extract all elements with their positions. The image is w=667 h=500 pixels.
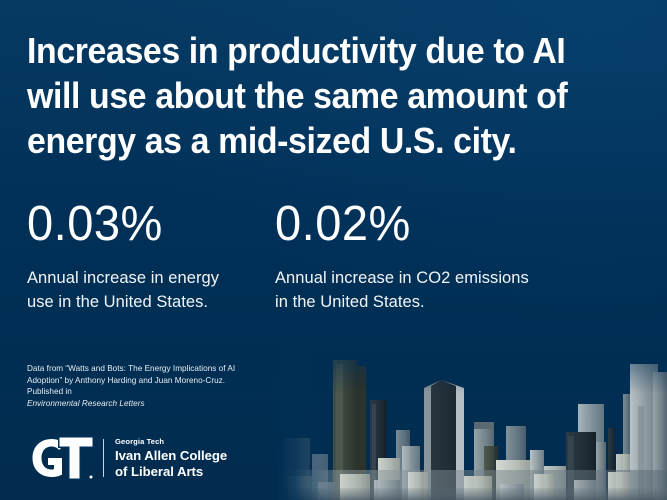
- logo-college-name: Ivan Allen College of Liberal Arts: [115, 448, 227, 479]
- stat-co2-emissions-label: Annual increase in CO2 emissions in the …: [275, 266, 523, 314]
- stat-energy-use-label-line-1: Annual increase in energy: [27, 266, 275, 290]
- logo-college-name-line-2: of Liberal Arts: [115, 464, 227, 480]
- skyline-top-haze: [278, 342, 667, 394]
- stat-co2-emissions-label-line-1: Annual increase in CO2 emissions: [275, 266, 523, 290]
- logo-divider: [103, 439, 104, 477]
- headline: Increases in productivity due to AI will…: [27, 28, 591, 163]
- headline-line-2: will use about the same amount of: [27, 73, 591, 118]
- stat-co2-emissions-label-line-2: in the United States.: [275, 290, 523, 314]
- logo-eyebrow: Georgia Tech: [115, 437, 227, 446]
- source-citation: Data from “Watts and Bots: The Energy Im…: [27, 363, 327, 409]
- city-skyline-illustration: [278, 342, 667, 500]
- statistics-group: 0.03% Annual increase in energy use in t…: [27, 196, 637, 314]
- georgia-tech-logo-lockup: Georgia Tech Ivan Allen College of Liber…: [28, 436, 227, 480]
- logo-wordmark: Georgia Tech Ivan Allen College of Liber…: [115, 437, 227, 479]
- stat-energy-use-label-line-2: use in the United States.: [27, 290, 275, 314]
- stat-energy-use: 0.03% Annual increase in energy use in t…: [27, 196, 275, 314]
- stat-co2-emissions-value: 0.02%: [275, 196, 513, 252]
- georgia-tech-gt-monogram-icon: [28, 436, 94, 480]
- stat-energy-use-value: 0.03%: [27, 196, 265, 252]
- citation-published-prefix: Published in: [27, 386, 327, 398]
- citation-line-2: Adoption” by Anthony Harding and Juan Mo…: [27, 375, 327, 387]
- citation-line-3: Published in Environmental Research Lett…: [27, 386, 327, 409]
- citation-journal-name: Environmental Research Letters: [27, 399, 145, 408]
- stat-co2-emissions: 0.02% Annual increase in CO2 emissions i…: [275, 196, 523, 314]
- infographic-card: Increases in productivity due to AI will…: [0, 0, 667, 500]
- headline-line-1: Increases in productivity due to AI: [27, 28, 591, 73]
- headline-line-3: energy as a mid-sized U.S. city.: [27, 118, 591, 163]
- citation-line-1: Data from “Watts and Bots: The Energy Im…: [27, 363, 327, 375]
- logo-college-name-line-1: Ivan Allen College: [115, 448, 227, 464]
- stat-energy-use-label: Annual increase in energy use in the Uni…: [27, 266, 275, 314]
